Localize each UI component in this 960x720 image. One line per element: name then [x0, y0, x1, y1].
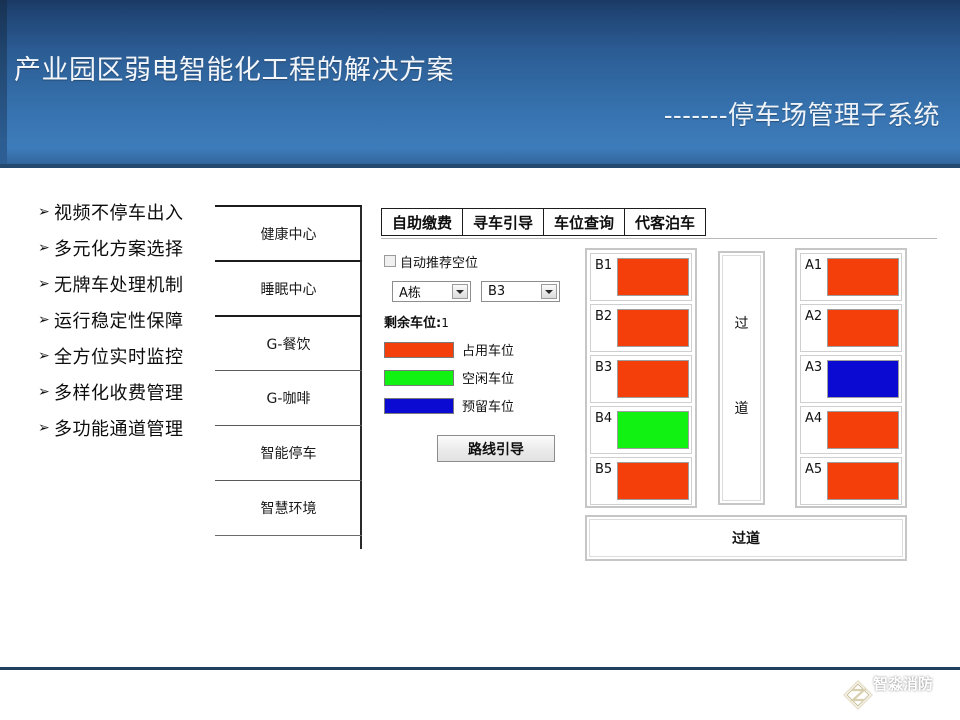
parking-slot[interactable]: A1	[800, 253, 902, 301]
legend-item-reserved: 预留车位	[384, 396, 584, 415]
parking-slot-label: B4	[595, 411, 612, 426]
parking-slot-status-occupied	[827, 462, 899, 500]
table-cell-label: 智慧环境	[261, 498, 317, 518]
chevron-down-icon[interactable]	[452, 284, 468, 299]
list-item: ➢ 全方位实时监控	[38, 338, 218, 374]
tab-bar: 自助缴费 寻车引导 车位查询 代客泊车	[381, 208, 706, 236]
legend-swatch-free	[384, 370, 454, 386]
slide-header: 产业园区弱电智能化工程的解决方案 -------停车场管理子系统	[0, 0, 960, 168]
list-item-label: 多元化方案选择	[54, 235, 184, 261]
table-row[interactable]: 智能停车	[215, 425, 362, 480]
parking-slot-label: B3	[595, 360, 612, 375]
parking-slot-label: B1	[595, 258, 612, 273]
list-item-label: 无牌车处理机制	[54, 271, 184, 297]
remaining-slots-value: 1	[441, 316, 449, 330]
remaining-slots-row: 剩余车位:1	[384, 312, 584, 331]
parking-slot-label: A1	[805, 258, 822, 273]
diamond-logo-icon	[843, 680, 873, 710]
list-item: ➢ 多样化收费管理	[38, 374, 218, 410]
table-row[interactable]: 健康中心	[215, 205, 362, 260]
list-item: ➢ 运行稳定性保障	[38, 302, 218, 338]
list-item-label: 多样化收费管理	[54, 379, 184, 405]
parking-slot[interactable]: B4	[590, 406, 692, 454]
parking-slot-status-occupied	[617, 309, 689, 347]
parking-slot-status-occupied	[827, 411, 899, 449]
table-cell-label: G-咖啡	[267, 388, 311, 408]
list-item: ➢ 多元化方案选择	[38, 230, 218, 266]
parking-slot-label: B2	[595, 309, 612, 324]
bullet-arrow-icon: ➢	[38, 313, 54, 327]
watermark-brand-en: zmjaxf.com	[873, 694, 955, 707]
building-select-value: A栋	[393, 282, 421, 301]
aisle-vertical-char-1: 过	[720, 313, 763, 333]
parking-slot[interactable]: A4	[800, 406, 902, 454]
aisle-vertical-inner-border	[722, 255, 761, 501]
parking-slot-status-occupied	[827, 258, 899, 296]
parking-slot-status-occupied	[617, 462, 689, 500]
parking-slot-status-reserved	[827, 360, 899, 398]
parking-slot[interactable]: B1	[590, 253, 692, 301]
legend-label-reserved: 预留车位	[462, 396, 514, 415]
control-panel: 自动推荐空位 A栋 B3 剩余车位:1 占用车位	[384, 252, 584, 462]
select-row: A栋 B3	[392, 281, 584, 302]
parking-column-b: B1 B2 B3 B4 B5	[585, 248, 697, 508]
bullet-arrow-icon: ➢	[38, 349, 54, 363]
aisle-vertical-char-2: 道	[720, 398, 763, 418]
parking-column-a: A1 A2 A3 A4 A5	[795, 248, 907, 508]
bullet-arrow-icon: ➢	[38, 421, 54, 435]
level-select[interactable]: B3	[481, 281, 560, 302]
parking-slot[interactable]: A2	[800, 304, 902, 352]
parking-slot-label: A3	[805, 360, 822, 375]
table-cell-label: G-餐饮	[267, 334, 311, 354]
table-row[interactable]: 智慧环境	[215, 480, 362, 535]
tab-find-car-guide[interactable]: 寻车引导	[462, 208, 543, 236]
tab-valet-parking[interactable]: 代客泊车	[624, 208, 706, 236]
page-title: 产业园区弱电智能化工程的解决方案	[14, 48, 454, 87]
table-row[interactable]: G-咖啡	[215, 370, 362, 425]
page-subtitle: -------停车场管理子系统	[664, 95, 940, 132]
aisle-vertical: 过 道	[718, 251, 765, 505]
parking-slot-status-occupied	[617, 258, 689, 296]
list-item-label: 多功能通道管理	[54, 415, 184, 441]
parking-slot-status-occupied	[827, 309, 899, 347]
chevron-down-icon[interactable]	[541, 284, 557, 299]
feature-bullet-list: ➢ 视频不停车出入 ➢ 多元化方案选择 ➢ 无牌车处理机制 ➢ 运行稳定性保障 …	[38, 194, 218, 446]
facility-list-table: 健康中心 睡眠中心 G-餐饮 G-咖啡 智能停车 智慧环境	[215, 205, 362, 549]
list-item-label: 运行稳定性保障	[54, 307, 184, 333]
auto-recommend-row[interactable]: 自动推荐空位	[384, 252, 584, 270]
list-item-label: 全方位实时监控	[54, 343, 184, 369]
table-cell-label: 健康中心	[261, 224, 317, 244]
table-cell-label: 睡眠中心	[261, 279, 317, 299]
slide-root: 产业园区弱电智能化工程的解决方案 -------停车场管理子系统 ➢ 视频不停车…	[0, 0, 960, 720]
legend-label-occupied: 占用车位	[462, 340, 514, 359]
parking-slot-status-occupied	[617, 360, 689, 398]
list-item-label: 视频不停车出入	[54, 199, 184, 225]
building-select[interactable]: A栋	[392, 281, 471, 302]
parking-slot[interactable]: A5	[800, 457, 902, 505]
parking-app-screenshot: 自助缴费 寻车引导 车位查询 代客泊车 自动推荐空位 A栋 B3	[378, 208, 940, 568]
footer-top-divider	[0, 667, 960, 670]
legend-item-occupied: 占用车位	[384, 340, 584, 359]
legend-swatch-reserved	[384, 398, 454, 414]
parking-slot-label: A2	[805, 309, 822, 324]
auto-recommend-checkbox[interactable]	[384, 255, 396, 267]
tab-self-payment[interactable]: 自助缴费	[381, 208, 462, 236]
list-item: ➢ 无牌车处理机制	[38, 266, 218, 302]
parking-slot[interactable]: A3	[800, 355, 902, 403]
bullet-arrow-icon: ➢	[38, 385, 54, 399]
legend-label-free: 空闲车位	[462, 368, 514, 387]
table-row[interactable]: 睡眠中心	[215, 260, 362, 315]
parking-slot-label: B5	[595, 462, 612, 477]
watermark-brand-cn: 智淼消防	[873, 676, 955, 694]
legend-swatch-occupied	[384, 342, 454, 358]
remaining-slots-label: 剩余车位:	[384, 316, 441, 331]
tab-slot-query[interactable]: 车位查询	[543, 208, 624, 236]
watermark: 智淼消防 zmjaxf.com	[843, 676, 955, 714]
header-left-edge-shade	[0, 0, 7, 168]
tab-bar-underline	[381, 238, 937, 239]
parking-slot[interactable]: B3	[590, 355, 692, 403]
parking-slot[interactable]: B2	[590, 304, 692, 352]
route-guide-button[interactable]: 路线引导	[437, 435, 555, 462]
watermark-text: 智淼消防 zmjaxf.com	[873, 676, 955, 707]
slide-footer	[0, 667, 960, 720]
table-cell-label: 智能停车	[261, 443, 317, 463]
list-item: ➢ 多功能通道管理	[38, 410, 218, 446]
parking-slot-status-free	[617, 411, 689, 449]
parking-map: B1 B2 B3 B4 B5	[585, 248, 937, 568]
table-row[interactable]: G-餐饮	[215, 315, 362, 370]
bullet-arrow-icon: ➢	[38, 205, 54, 219]
auto-recommend-label: 自动推荐空位	[400, 252, 478, 271]
aisle-horizontal: 过道	[585, 515, 907, 561]
legend-item-free: 空闲车位	[384, 368, 584, 387]
list-item: ➢ 视频不停车出入	[38, 194, 218, 230]
parking-slot-label: A5	[805, 462, 822, 477]
parking-slot[interactable]: B5	[590, 457, 692, 505]
aisle-horizontal-label: 过道	[732, 528, 760, 548]
bullet-arrow-icon: ➢	[38, 277, 54, 291]
bullet-arrow-icon: ➢	[38, 241, 54, 255]
level-select-value: B3	[482, 284, 505, 299]
parking-slot-label: A4	[805, 411, 822, 426]
